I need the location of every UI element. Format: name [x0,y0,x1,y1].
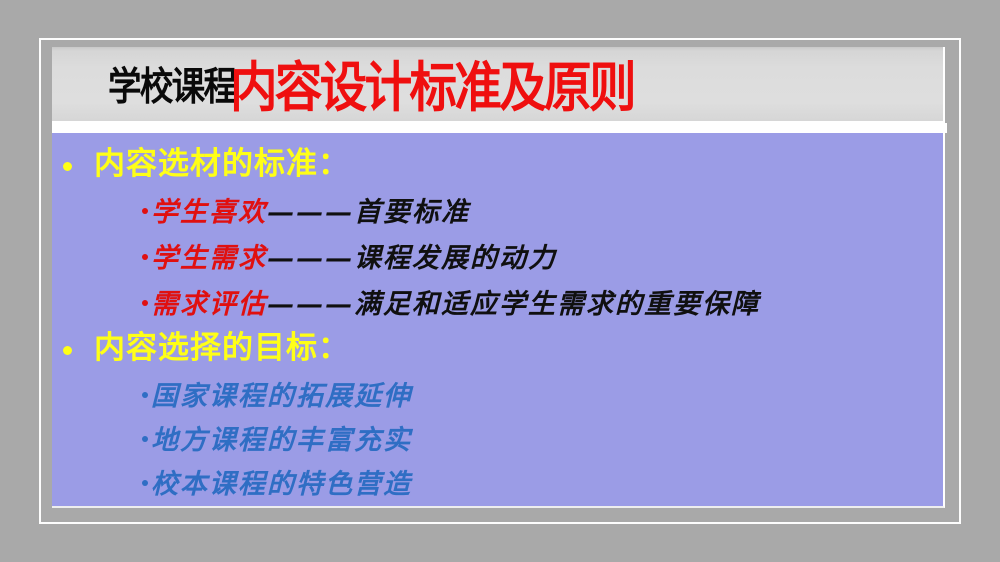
list-item-key: 学生喜欢 [151,197,267,229]
list-item-value: 满足和适应学生需求的重要保障 [354,289,760,321]
bullet-dot-icon [142,208,148,214]
title-prefix-text: 学校课程 [108,51,235,124]
bullet-dot-icon [142,480,148,486]
bullet-dot-icon [63,162,72,171]
slide-body: 内容选材的标准： 学生喜欢———首要标准 学生需求———课程发展的动力 需求评估… [52,133,945,508]
list-item-value: 校本课程的特色营造 [151,469,412,501]
title-main-text: 内容设计标准及原则 [230,51,634,124]
list-item-dash: ——— [267,197,354,229]
title-plate: 学校课程内容设计标准及原则 [52,47,945,123]
list-item-value: 地方课程的丰富充实 [151,425,412,457]
list-item: 学生喜欢———首要标准 [142,197,470,229]
bullet-dot-icon [142,436,148,442]
list-item: 校本课程的特色营造 [142,469,412,501]
list-item-key: 需求评估 [151,289,267,321]
list-item-dash: ——— [267,243,354,275]
section-heading-1: 内容选材的标准： [63,145,350,183]
slide-canvas: 学校课程内容设计标准及原则 内容选材的标准： 学生喜欢———首要标准 学生需求—… [0,0,1000,562]
bullet-dot-icon [63,346,72,355]
list-item-key: 学生需求 [151,243,267,275]
list-item: 需求评估———满足和适应学生需求的重要保障 [142,289,760,321]
list-item-value: 课程发展的动力 [354,243,557,275]
list-item-value: 首要标准 [354,197,470,229]
slide-title: 学校课程内容设计标准及原则 [108,50,689,123]
list-item: 学生需求———课程发展的动力 [142,243,557,275]
title-body-divider [52,123,947,133]
list-item: 地方课程的丰富充实 [142,425,412,457]
list-item-dash: ——— [267,289,354,321]
bullet-dot-icon [142,300,148,306]
bullet-dot-icon [142,392,148,398]
list-item: 国家课程的拓展延伸 [142,381,412,413]
section-heading-2-label: 内容选择的目标： [94,329,350,367]
bullet-dot-icon [142,254,148,260]
section-heading-2: 内容选择的目标： [63,329,350,367]
section-heading-1-label: 内容选材的标准： [94,145,350,183]
list-item-value: 国家课程的拓展延伸 [151,381,412,413]
